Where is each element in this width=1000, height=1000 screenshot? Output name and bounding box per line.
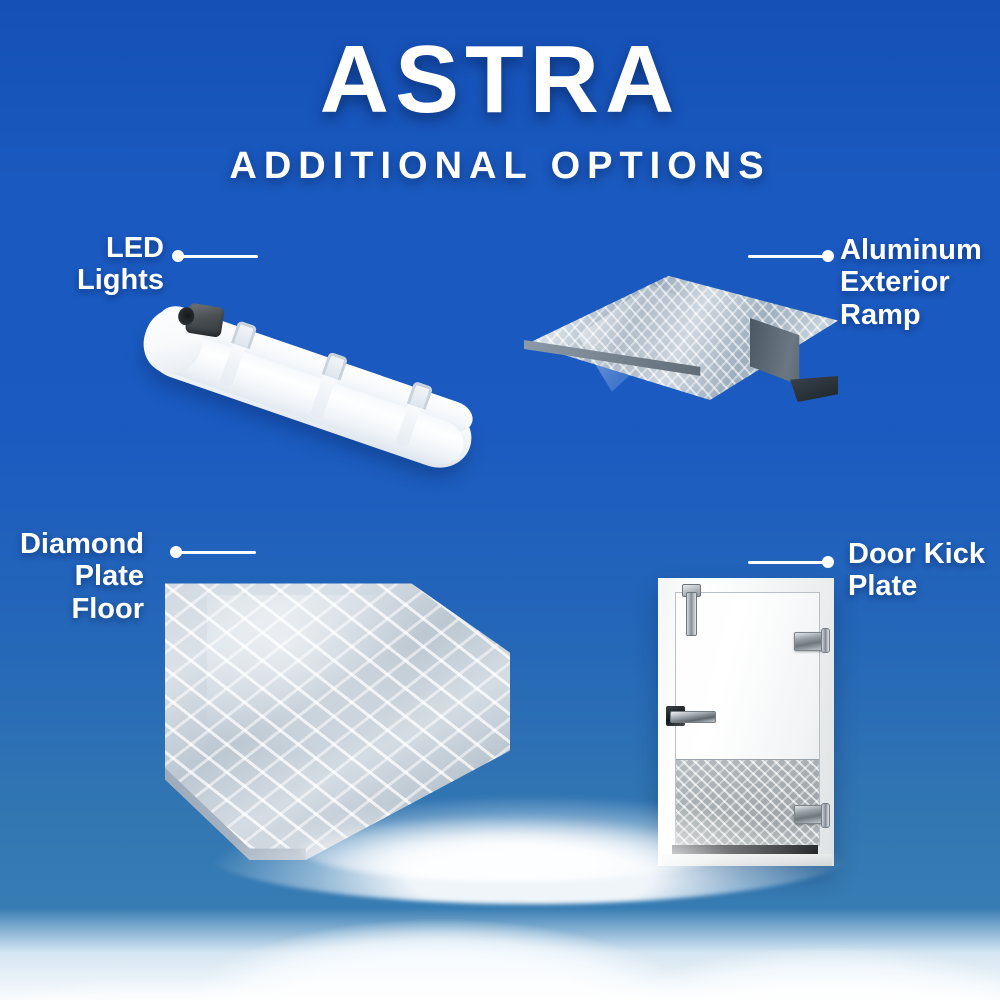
leader-line-door-kick-plate xyxy=(748,556,834,568)
callout-label-line: Plate xyxy=(848,570,994,602)
door-hinge-pin-bottom xyxy=(821,803,830,828)
door-hinge-bottom xyxy=(794,805,824,824)
page-title: ASTRA xyxy=(0,30,1000,131)
door-handle xyxy=(670,711,716,723)
page-subtitle: ADDITIONAL OPTIONS xyxy=(0,145,1000,188)
led-fixture-body-group xyxy=(136,292,494,485)
leader-bar xyxy=(748,561,828,564)
leader-bar xyxy=(176,551,256,554)
leader-dot-icon xyxy=(822,556,834,568)
ramp-mounting-tab xyxy=(790,376,838,402)
callout-label-line: Door Kick xyxy=(848,538,994,570)
callout-label-line: Plate xyxy=(14,560,144,592)
led-light-fixture-image xyxy=(150,272,520,437)
cooler-door-image xyxy=(658,578,834,866)
ice-peak xyxy=(0,850,1000,1000)
callout-label-line: Aluminum xyxy=(840,234,990,266)
door-kick-plate xyxy=(676,759,819,845)
diamond-plate-floor-image xyxy=(158,572,510,860)
ice-ridge xyxy=(0,908,1000,1000)
leader-line-aluminum-exterior-ramp xyxy=(748,250,834,262)
door-sill xyxy=(662,854,832,866)
leader-bar xyxy=(748,255,828,258)
door-hinge-pin-top xyxy=(821,628,830,653)
poster-canvas: ASTRA ADDITIONAL OPTIONS xyxy=(0,0,1000,1000)
poster-header: ASTRA ADDITIONAL OPTIONS xyxy=(0,0,1000,188)
callout-label-line: Ramp xyxy=(840,299,990,331)
callout-label-line: LED xyxy=(24,232,164,264)
callout-label-line: Floor xyxy=(14,593,144,625)
leader-line-diamond-plate-floor xyxy=(170,546,256,558)
door-safety-bolt xyxy=(686,592,697,636)
leader-line-led-lights xyxy=(172,250,258,262)
callout-label-line: Diamond xyxy=(14,528,144,560)
leader-bar xyxy=(178,255,258,258)
leader-dot-icon xyxy=(822,250,834,262)
door-hinge-top xyxy=(794,632,824,651)
callout-label-line: Lights xyxy=(24,264,164,296)
callout-door-kick-plate: Door Kick Plate xyxy=(848,538,994,603)
led-cable-gland xyxy=(185,303,225,338)
callout-led-lights: LED Lights xyxy=(24,232,164,297)
callout-aluminum-exterior-ramp: Aluminum Exterior Ramp xyxy=(840,234,990,331)
aluminum-ramp-image xyxy=(518,272,848,432)
callout-diamond-plate-floor: Diamond Plate Floor xyxy=(14,528,144,625)
callout-label-line: Exterior xyxy=(840,266,990,298)
